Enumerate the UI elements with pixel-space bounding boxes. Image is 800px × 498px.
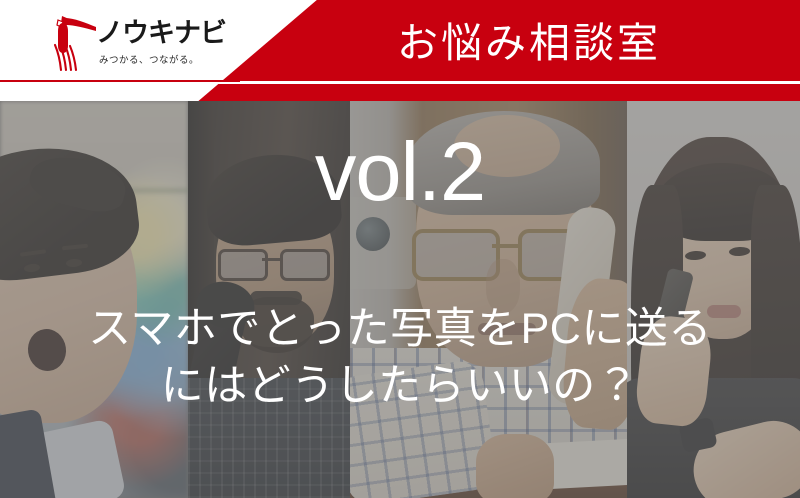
panel-2-dim-overlay [188, 101, 350, 498]
photo-panel-elderly-man-on-phone [350, 101, 627, 498]
panel-3-dim-overlay [350, 101, 627, 498]
photo-panel-woman-with-smartphone [627, 101, 800, 498]
panel-1-dim-overlay [0, 101, 188, 498]
photo-panel-man-with-handset [188, 101, 350, 498]
panel-4-dim-overlay [627, 101, 800, 498]
photo-panel-surprised-young-man [0, 101, 188, 498]
nokinavi-bird-mark-icon [52, 12, 98, 72]
banner-header: お悩み相談室 ノウキナビ ® みつかる、つながる。 [0, 0, 800, 101]
article-hero-banner: お悩み相談室 ノウキナビ ® みつかる、つながる。 [0, 0, 800, 498]
header-red-rule [0, 80, 240, 82]
logo-wordmark: ノウキナビ [96, 20, 226, 47]
logo-tagline: みつかる、つながる。 [99, 52, 199, 66]
registered-trademark-icon: ® [185, 24, 191, 33]
photo-strip [0, 101, 800, 498]
nokinavi-logo[interactable]: ノウキナビ ® みつかる、つながる。 [52, 12, 212, 74]
